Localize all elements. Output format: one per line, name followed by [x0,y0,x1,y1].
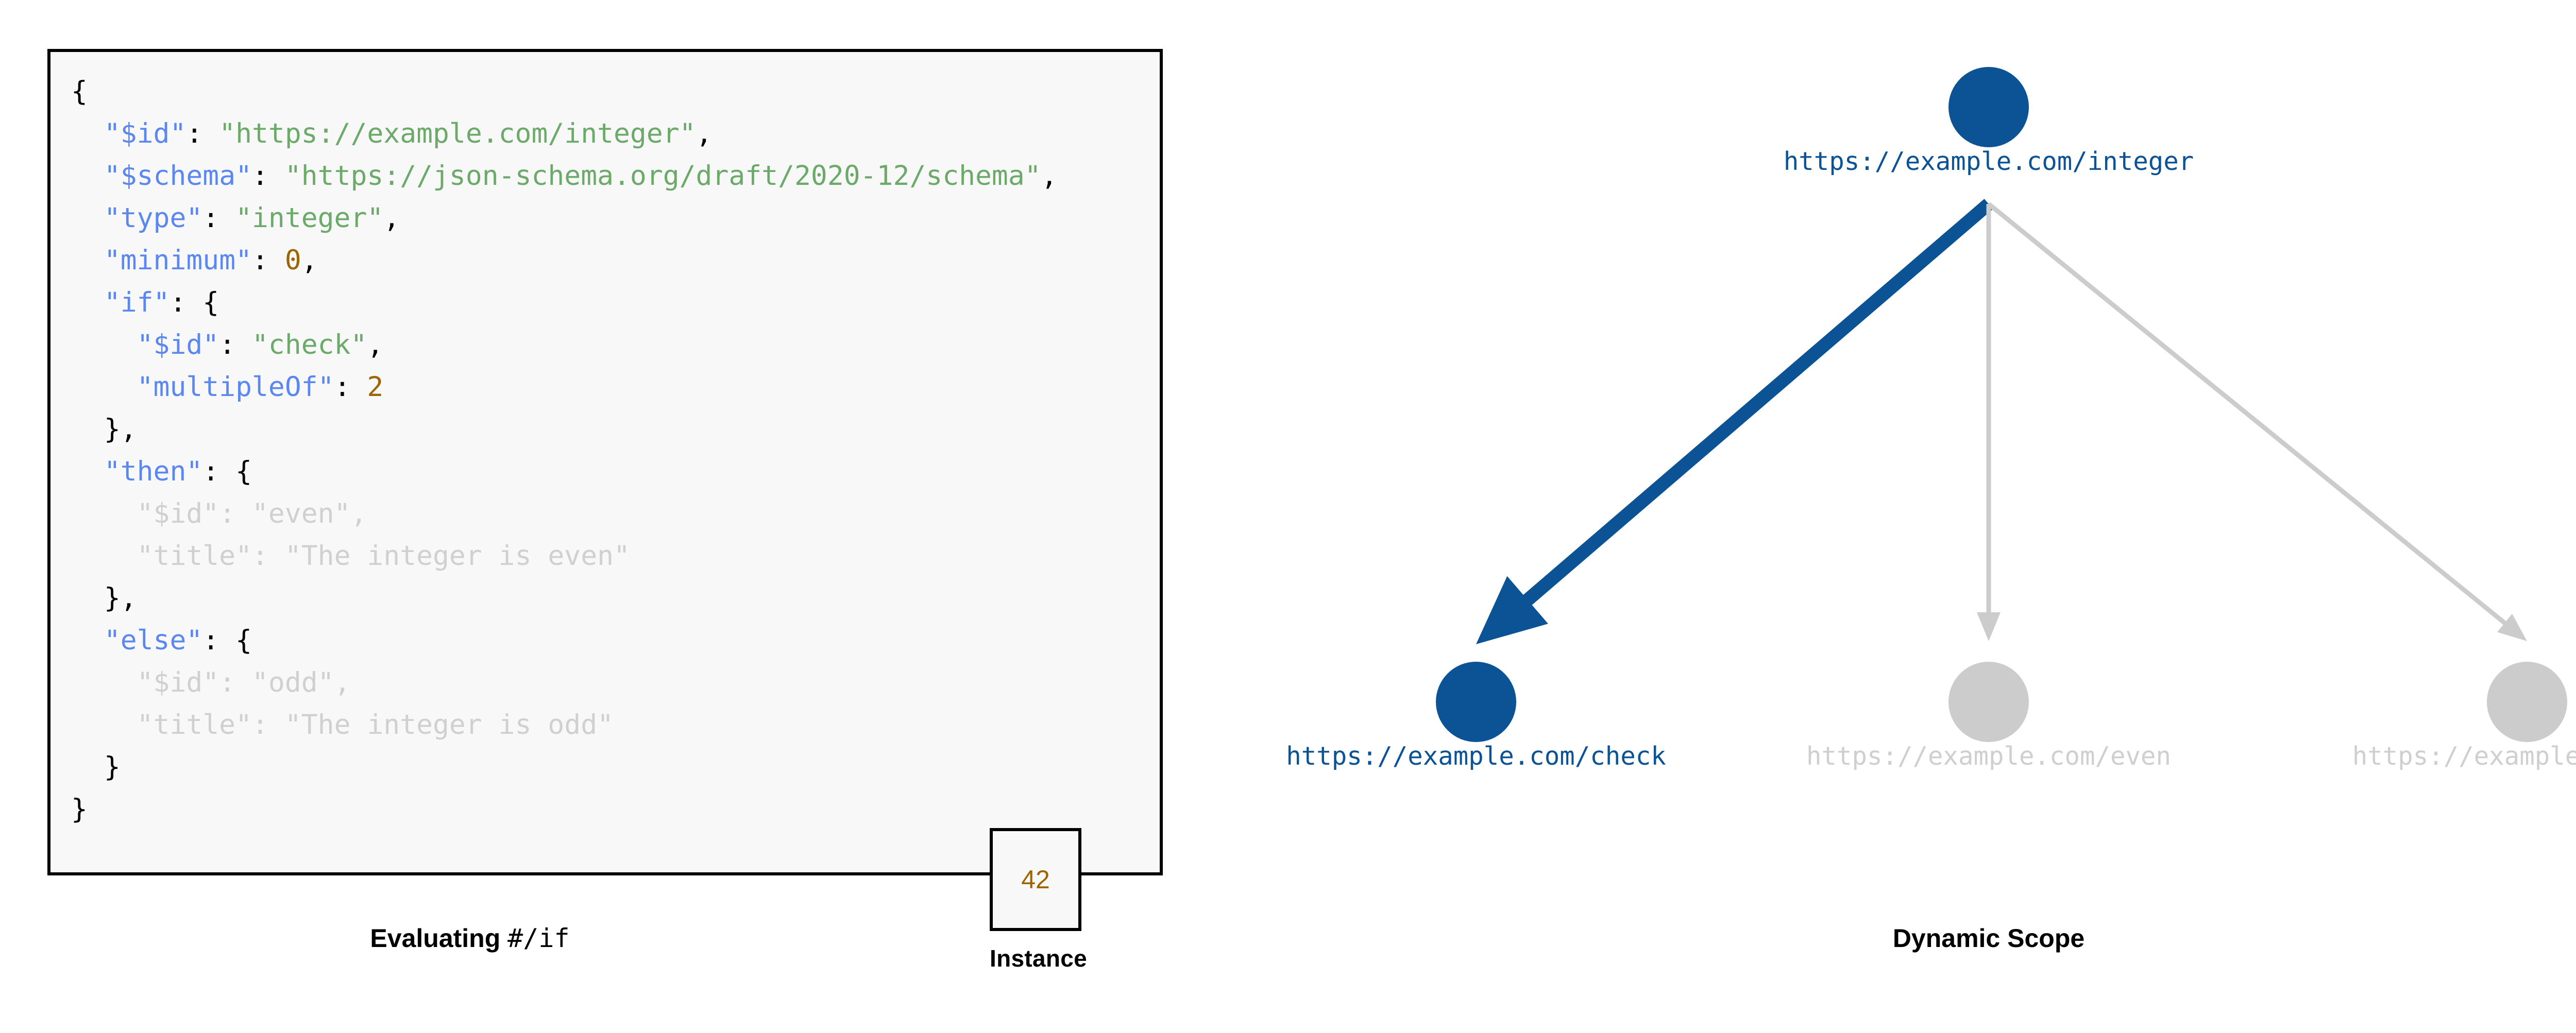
code-token-punc: : { [202,456,252,487]
code-token-punc: : { [202,625,252,656]
code-token-punc: , [1041,160,1058,192]
code-token-punc: : { [170,287,219,318]
code-token-key: "type" [104,202,202,234]
code-line: }, [71,408,1058,451]
code-token-key: "$id" [137,667,219,698]
code-token-str: "odd" [252,667,334,698]
code-line: { [71,71,1058,113]
code-line: "then": { [71,451,1058,493]
scope-node-integer[interactable] [1948,67,2029,147]
code-token-punc: } [71,794,88,825]
code-line: "$id": "check", [71,324,1058,366]
schema-code-block: { "$id": "https://example.com/integer", … [71,71,1058,831]
instance-value: 42 [1021,865,1050,894]
code-token-key: "then" [104,456,202,487]
edges-layer [1476,204,2527,644]
schema-caption-pointer: #/if [507,923,569,953]
instance-caption: Instance [990,944,1081,972]
schema-panel: { "$id": "https://example.com/integer", … [47,49,1163,875]
code-token-str: "even" [252,498,350,529]
code-token-punc: }, [104,582,137,614]
code-token-punc: : [219,329,252,360]
code-token-str: "https://example.com/integer" [219,118,696,149]
code-line: "$id": "https://example.com/integer", [71,113,1058,155]
code-line: "minimum": 0, [71,239,1058,282]
code-token-key: "$schema" [104,160,252,192]
code-line: "title": "The integer is odd" [71,704,1058,746]
scope-node-label-check: https://example.com/check [1286,742,1666,771]
code-token-str: "https://json-schema.org/draft/2020-12/s… [285,160,1041,192]
code-token-key: "multipleOf" [137,371,334,403]
code-token-punc: : [219,498,252,529]
code-line: } [71,746,1058,788]
instance-box: 42 [990,828,1081,931]
code-token-punc: , [367,329,383,360]
instance-group: 42 Instance [990,828,1081,972]
scope-node-odd[interactable] [2487,662,2567,742]
code-token-key: "else" [104,625,202,656]
code-line: "$id": "even", [71,493,1058,535]
schema-caption-prefix: Evaluating [370,924,507,953]
scope-graph-svg: https://example.com/integerhttps://examp… [1185,31,2576,886]
scope-node-label-even: https://example.com/even [1806,742,2171,771]
scope-node-label-integer: https://example.com/integer [1784,147,2194,176]
code-line: "$id": "odd", [71,662,1058,704]
code-token-punc: : [252,540,285,572]
code-token-key: "minimum" [104,245,252,276]
code-token-str: "The integer is odd" [285,709,614,741]
code-token-key: "$id" [137,329,219,360]
code-token-punc: }, [104,414,137,445]
code-token-key: "$id" [104,118,187,149]
code-token-punc: , [334,667,351,698]
code-token-key: "if" [104,287,170,318]
code-token-key: "$id" [137,498,219,529]
code-token-punc: : [186,118,219,149]
code-line: "else": { [71,619,1058,662]
code-token-punc: } [104,751,121,783]
code-token-key: "title" [137,540,252,572]
scope-node-check[interactable] [1436,662,1516,742]
code-token-str: "check" [252,329,367,360]
code-token-str: "integer" [235,202,383,234]
code-token-punc: , [383,202,400,234]
scope-edge-integer-to-check [1476,204,1989,644]
code-token-num: 2 [367,371,383,403]
code-token-punc: : [202,202,235,234]
code-token-punc: : [334,371,367,403]
code-token-punc: { [71,76,88,107]
scope-panel-caption: Dynamic Scope [1690,923,2287,953]
code-line: "$schema": "https://json-schema.org/draf… [71,155,1058,197]
scope-node-label-odd: https://example.com/odd [2352,742,2576,771]
code-line: } [71,788,1058,831]
code-token-punc: , [350,498,367,529]
code-token-num: 0 [285,245,301,276]
scope-edge-integer-to-odd [1989,204,2527,641]
code-line: "type": "integer", [71,197,1058,239]
code-token-punc: : [252,709,285,741]
code-token-punc: : [252,245,285,276]
code-line: "if": { [71,282,1058,324]
dynamic-scope-graph: https://example.com/integerhttps://examp… [1185,31,2576,886]
scope-edge-integer-to-even [1977,204,2001,641]
code-token-punc: : [252,160,285,192]
code-line: }, [71,577,1058,619]
code-token-str: "The integer is even" [285,540,630,572]
code-token-punc: , [696,118,713,149]
code-line: "multipleOf": 2 [71,366,1058,408]
schema-panel-caption: Evaluating #/if [47,923,892,953]
code-token-punc: : [219,667,252,698]
scope-node-even[interactable] [1948,662,2029,742]
code-token-punc: , [301,245,318,276]
code-line: "title": "The integer is even" [71,535,1058,577]
code-token-key: "title" [137,709,252,741]
